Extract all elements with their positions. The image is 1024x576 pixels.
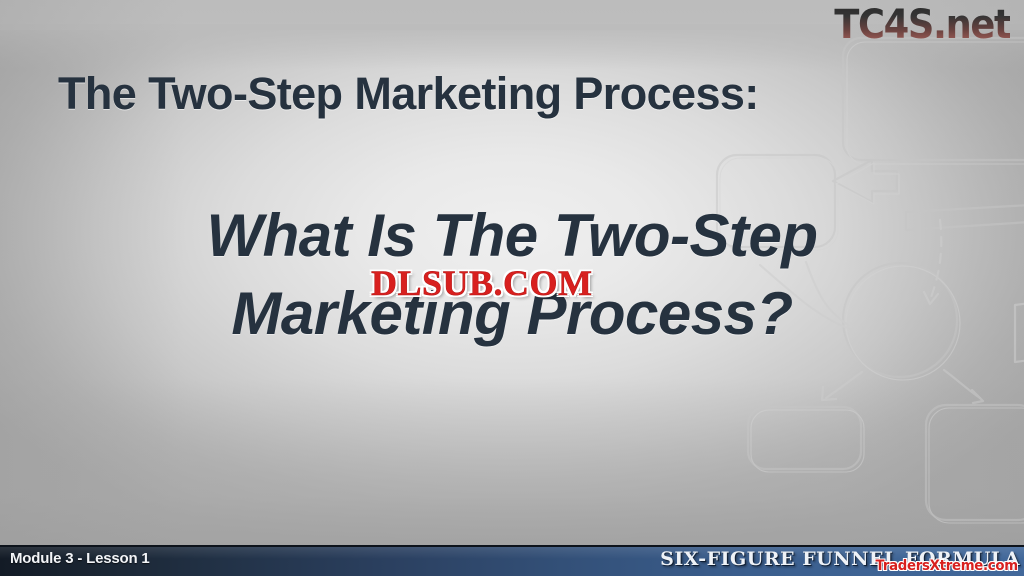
footer-bar: Module 3 - Lesson 1 SIX-FIGURE FUNNEL FO… [0, 545, 1024, 576]
corner-watermark: TradersXtreme.com [876, 558, 1018, 574]
tc4s-logo: TC4S.net [834, 2, 1010, 48]
lesson-label: Module 3 - Lesson 1 [10, 550, 150, 567]
presentation-slide: The Two-Step Marketing Process: What Is … [0, 0, 1024, 576]
slide-title: The Two-Step Marketing Process: [58, 68, 968, 120]
center-watermark: DLSUB.COM [371, 262, 593, 304]
